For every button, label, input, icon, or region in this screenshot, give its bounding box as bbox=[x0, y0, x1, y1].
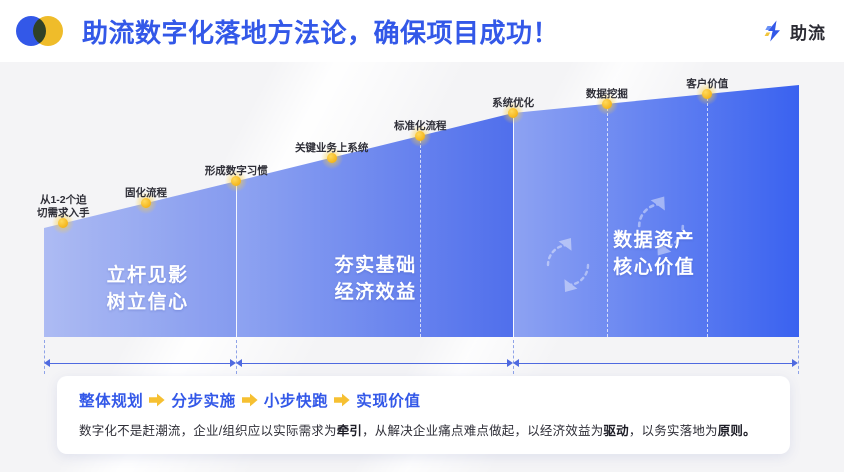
milestone-label: 从1-2个迫切需求入手 bbox=[32, 194, 94, 220]
milestone-2[interactable]: 固化流程 bbox=[135, 192, 157, 214]
milestone-3[interactable]: 形成数字习惯 bbox=[225, 170, 247, 192]
summary-card: 整体规划分步实施小步快跑实现价值 数字化不是赶潮流，企业/组织应以实际需求为牵引… bbox=[57, 376, 790, 454]
milestone-6[interactable]: 系统优化 bbox=[502, 102, 524, 124]
right-arrow-icon bbox=[334, 393, 350, 407]
milestone-guide-line bbox=[236, 185, 237, 337]
stage-caption-2: 夯实基础经济效益 bbox=[335, 253, 417, 307]
ramp-area: 从1-2个迫切需求入手固化流程形成数字习惯关键业务上系统标准化流程系统优化数据挖… bbox=[0, 62, 844, 352]
page-title: 助流数字化落地方法论，确保项目成功！ bbox=[82, 13, 559, 50]
description-text: ，从解决企业痛点难点做起，以经济效益为 bbox=[362, 424, 603, 438]
methodology-chart: 从1-2个迫切需求入手固化流程形成数字习惯关键业务上系统标准化流程系统优化数据挖… bbox=[0, 62, 844, 472]
keyword-2: 分步实施 bbox=[171, 389, 235, 411]
timeline-segment-3: 12-24个月 bbox=[513, 356, 798, 372]
milestone-guide-line bbox=[707, 98, 708, 337]
milestone-label: 数据挖掘 bbox=[586, 88, 628, 101]
milestone-label: 形成数字习惯 bbox=[205, 165, 268, 178]
corp-name: 助流 bbox=[790, 19, 826, 44]
two-overlapping-circles-logo bbox=[16, 14, 68, 48]
description-emphasis: 原则。 bbox=[718, 424, 756, 438]
page-header: 助流数字化落地方法论，确保项目成功！ 助流 bbox=[0, 0, 844, 62]
milestone-guide-line bbox=[607, 108, 608, 337]
description-text: ，以务实落地为 bbox=[629, 424, 718, 438]
milestone-label: 固化流程 bbox=[125, 187, 167, 200]
milestone-label: 关键业务上系统 bbox=[295, 142, 369, 155]
milestone-1[interactable]: 从1-2个迫切需求入手 bbox=[52, 212, 74, 234]
keyword-arrow bbox=[149, 393, 165, 407]
timeline-segment-1: 3-6个月 bbox=[44, 356, 236, 372]
milestone-label: 标准化流程 bbox=[394, 120, 447, 133]
milestone-4[interactable]: 关键业务上系统 bbox=[321, 147, 343, 169]
circular-arrows-decoration-icon bbox=[535, 232, 601, 298]
timeline-tick bbox=[798, 340, 799, 374]
summary-description: 数字化不是赶潮流，企业/组织应以实际需求为牵引，从解决企业痛点难点做起，以经济效… bbox=[79, 422, 768, 441]
milestone-guide-line bbox=[513, 117, 514, 337]
right-arrow-icon bbox=[149, 393, 165, 407]
stage-caption-1: 立杆见影树立信心 bbox=[107, 263, 189, 317]
description-emphasis: 驱动 bbox=[603, 424, 628, 438]
keyword-4: 实现价值 bbox=[356, 389, 420, 411]
milestone-8[interactable]: 客户价值 bbox=[696, 83, 718, 105]
description-text: 数字化不是赶潮流，企业/组织应以实际需求为 bbox=[79, 424, 337, 438]
milestone-5[interactable]: 标准化流程 bbox=[409, 125, 431, 147]
milestone-7[interactable]: 数据挖掘 bbox=[596, 93, 618, 115]
timeline-segment-2: 6-12个月 bbox=[236, 356, 513, 372]
keyword-arrow bbox=[334, 393, 350, 407]
milestone-label: 客户价值 bbox=[686, 78, 728, 91]
keyword-1: 整体规划 bbox=[79, 389, 143, 411]
lightning-bolt-icon bbox=[762, 19, 786, 43]
keyword-3: 小步快跑 bbox=[264, 389, 328, 411]
milestone-guide-line bbox=[420, 140, 421, 337]
right-arrow-icon bbox=[242, 393, 258, 407]
milestone-label: 系统优化 bbox=[492, 97, 534, 110]
description-emphasis: 牵引 bbox=[337, 424, 362, 438]
keyword-flow: 整体规划分步实施小步快跑实现价值 bbox=[79, 389, 768, 411]
keyword-arrow bbox=[242, 393, 258, 407]
stage-caption-3: 数据资产核心价值 bbox=[613, 228, 695, 282]
corp-logo: 助流 bbox=[762, 19, 826, 44]
